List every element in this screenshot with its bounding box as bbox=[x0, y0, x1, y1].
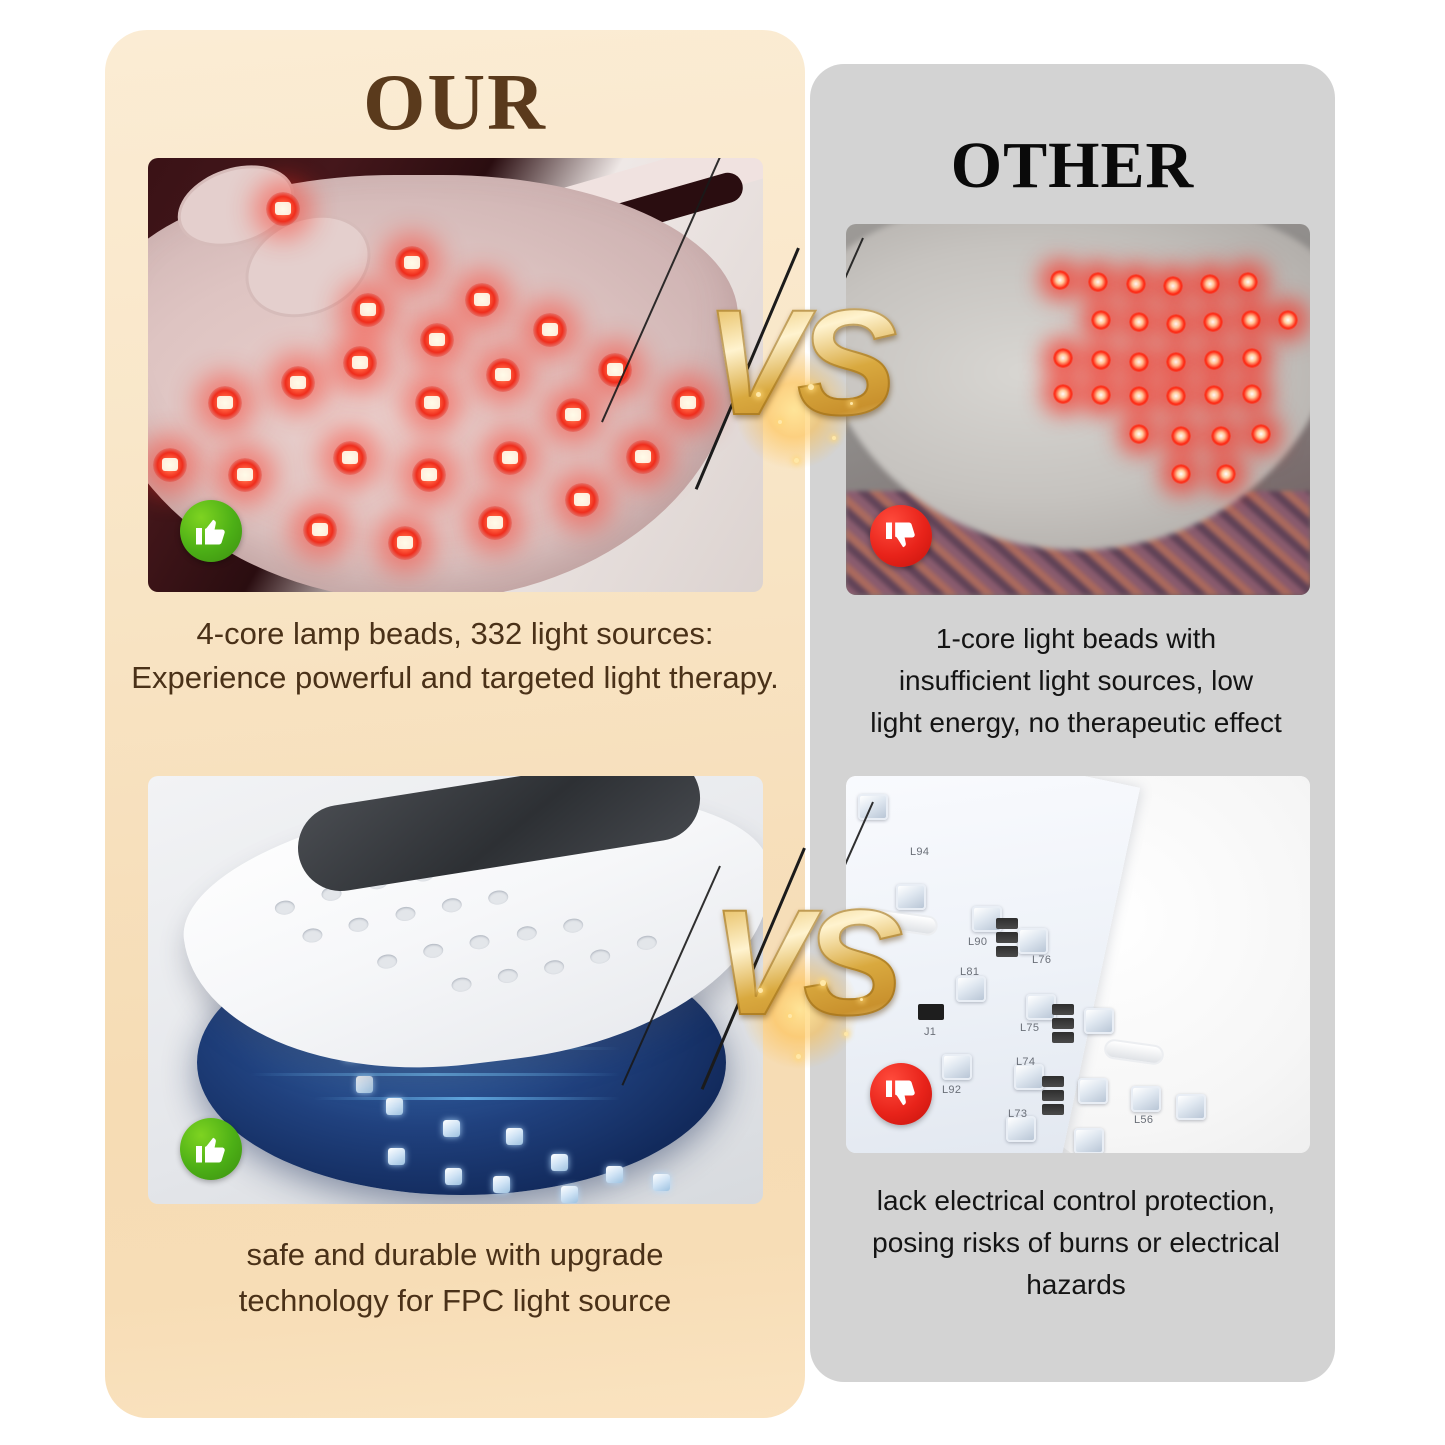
other-caption-1: 1-core light beads with insufficient lig… bbox=[826, 618, 1326, 744]
thumbs-up-icon bbox=[180, 500, 242, 562]
comparison-infographic: OUR bbox=[0, 0, 1445, 1445]
our-caption-1: 4-core lamp beads, 332 light sources: Ex… bbox=[110, 612, 800, 700]
vs-emblem-bottom: VS bbox=[688, 862, 918, 1092]
caption-line: insufficient light sources, low bbox=[826, 660, 1326, 702]
caption-line: 1-core light beads with bbox=[826, 618, 1326, 660]
silkscreen-label: L92 bbox=[942, 1084, 961, 1096]
caption-line: posing risks of burns or electrical bbox=[826, 1222, 1326, 1264]
silkscreen-label: L74 bbox=[1016, 1056, 1035, 1068]
caption-line: safe and durable with upgrade bbox=[150, 1232, 760, 1278]
our-caption-2: safe and durable with upgrade technology… bbox=[150, 1232, 760, 1324]
silkscreen-label: L75 bbox=[1020, 1022, 1039, 1034]
caption-line: lack electrical control protection, bbox=[826, 1180, 1326, 1222]
caption-line: light energy, no therapeutic effect bbox=[826, 702, 1326, 744]
caption-line: hazards bbox=[826, 1264, 1326, 1306]
vs-label: VS bbox=[688, 862, 918, 1092]
vs-emblem-top: VS bbox=[682, 262, 912, 492]
other-caption-2: lack electrical control protection, posi… bbox=[826, 1180, 1326, 1306]
silkscreen-label: L94 bbox=[910, 846, 929, 858]
caption-line: Experience powerful and targeted light t… bbox=[110, 656, 800, 700]
silkscreen-label: L90 bbox=[968, 936, 987, 948]
thumbs-down-icon bbox=[870, 505, 932, 567]
silkscreen-label: L56 bbox=[1134, 1114, 1153, 1126]
caption-line: technology for FPC light source bbox=[150, 1278, 760, 1324]
silkscreen-label: L81 bbox=[960, 966, 979, 978]
other-panel-title: OTHER bbox=[810, 128, 1335, 204]
thumbs-up-icon bbox=[180, 1118, 242, 1180]
silkscreen-label: L76 bbox=[1032, 954, 1051, 966]
caption-line: 4-core lamp beads, 332 light sources: bbox=[110, 612, 800, 656]
our-panel-title: OUR bbox=[105, 58, 805, 149]
silkscreen-label: J1 bbox=[924, 1026, 936, 1038]
silkscreen-label: L73 bbox=[1008, 1108, 1027, 1120]
